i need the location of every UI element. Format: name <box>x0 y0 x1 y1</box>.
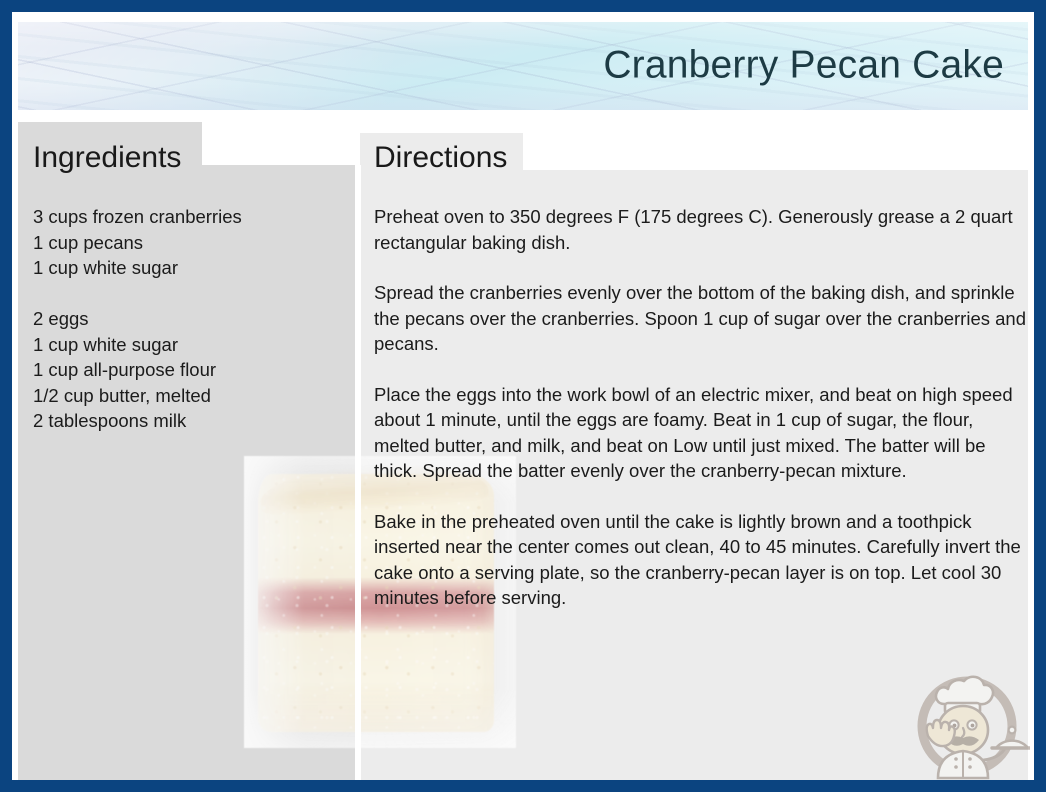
direction-step: Spread the cranberries evenly over the b… <box>374 280 1026 357</box>
list-item: 1 cup white sugar <box>33 255 343 281</box>
list-item: 3 cups frozen cranberries <box>33 204 343 230</box>
directions-heading: Directions <box>374 143 507 173</box>
direction-step: Place the eggs into the work bowl of an … <box>374 382 1026 484</box>
list-item: 1/2 cup butter, melted <box>33 383 343 409</box>
directions-list: Preheat oven to 350 degrees F (175 degre… <box>374 204 1026 611</box>
list-item: 2 eggs <box>33 306 343 332</box>
page-title: Cranberry Pecan Cake <box>603 46 1004 85</box>
list-item: 1 cup pecans <box>33 230 343 256</box>
header-banner: Cranberry Pecan Cake <box>18 22 1028 110</box>
direction-step: Bake in the preheated oven until the cak… <box>374 509 1026 611</box>
direction-step: Preheat oven to 350 degrees F (175 degre… <box>374 204 1026 255</box>
ingredients-heading: Ingredients <box>33 143 181 173</box>
ingredients-list: 3 cups frozen cranberries 1 cup pecans 1… <box>33 204 343 434</box>
list-item: 1 cup all-purpose flour <box>33 357 343 383</box>
chef-mascot-logo <box>904 660 1030 780</box>
list-item: 1 cup white sugar <box>33 332 343 358</box>
list-item-spacer <box>33 281 343 307</box>
list-item: 2 tablespoons milk <box>33 408 343 434</box>
recipe-card-body: Cranberry Pecan Cake Ingredients Directi… <box>12 12 1034 780</box>
panel-divider <box>355 165 361 780</box>
recipe-card-frame: Cranberry Pecan Cake Ingredients Directi… <box>0 0 1046 792</box>
